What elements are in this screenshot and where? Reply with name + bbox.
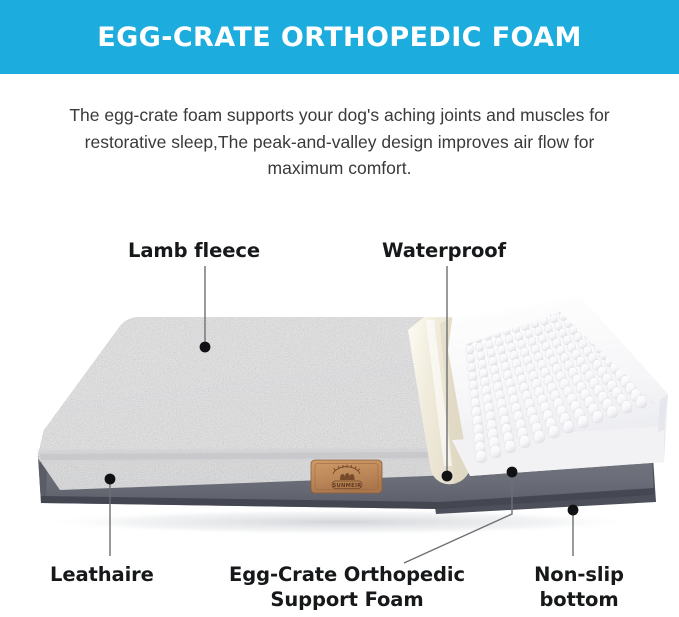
callout-label-non-slip-bottom: Non-slip bottom xyxy=(527,562,631,612)
foam-bump xyxy=(489,357,497,367)
callout-label-egg-crate-foam: Egg-Crate Orthopedic Support Foam xyxy=(211,562,483,612)
page-title: EGG-CRATE ORTHOPEDIC FOAM xyxy=(97,22,581,53)
foam-bump xyxy=(621,400,632,413)
foam-bump xyxy=(479,368,488,378)
infographic-page: EGG-CRATE ORTHOPEDIC FOAM The egg-crate … xyxy=(0,0,679,617)
foam-bump xyxy=(467,354,475,363)
brand-tag-label: SUNMEIR xyxy=(332,483,361,489)
brand-tag: SUNMEIR xyxy=(311,460,382,493)
foam-bump xyxy=(607,405,618,418)
foam-bump xyxy=(519,435,530,448)
foam-bump xyxy=(476,342,484,351)
foam-bump xyxy=(490,445,501,458)
foam-bump xyxy=(477,351,485,360)
brand-figures xyxy=(340,473,355,480)
callout-label-lamb-fleece: Lamb fleece xyxy=(128,238,260,263)
foam-bump xyxy=(577,415,588,428)
foam-bump xyxy=(497,345,505,354)
foam-bump xyxy=(467,363,475,373)
foam-bump xyxy=(495,337,503,346)
description-text: The egg-crate foam supports your dog's a… xyxy=(50,102,629,182)
foam-bump xyxy=(487,348,495,357)
foam-bump xyxy=(475,450,486,463)
egg-crate-foam-layer xyxy=(448,296,668,476)
foam-bump xyxy=(563,420,574,433)
foam-bump xyxy=(505,440,516,453)
product-shadow xyxy=(40,509,640,535)
foam-bump xyxy=(466,345,474,354)
header-banner: EGG-CRATE ORTHOPEDIC FOAM xyxy=(0,0,679,74)
foam-bump xyxy=(505,334,513,343)
foam-bump xyxy=(468,371,477,381)
foam-bump xyxy=(592,410,603,423)
foam-bump xyxy=(486,340,494,349)
product-illustration: SUNMEIR xyxy=(0,290,679,535)
foam-bump xyxy=(478,360,486,370)
callout-label-leathaire: Leathaire xyxy=(50,562,154,587)
callout-label-waterproof: Waterproof xyxy=(382,238,506,263)
foam-bump xyxy=(548,425,559,438)
foam-bump xyxy=(534,430,545,443)
foam-bump xyxy=(636,395,647,408)
